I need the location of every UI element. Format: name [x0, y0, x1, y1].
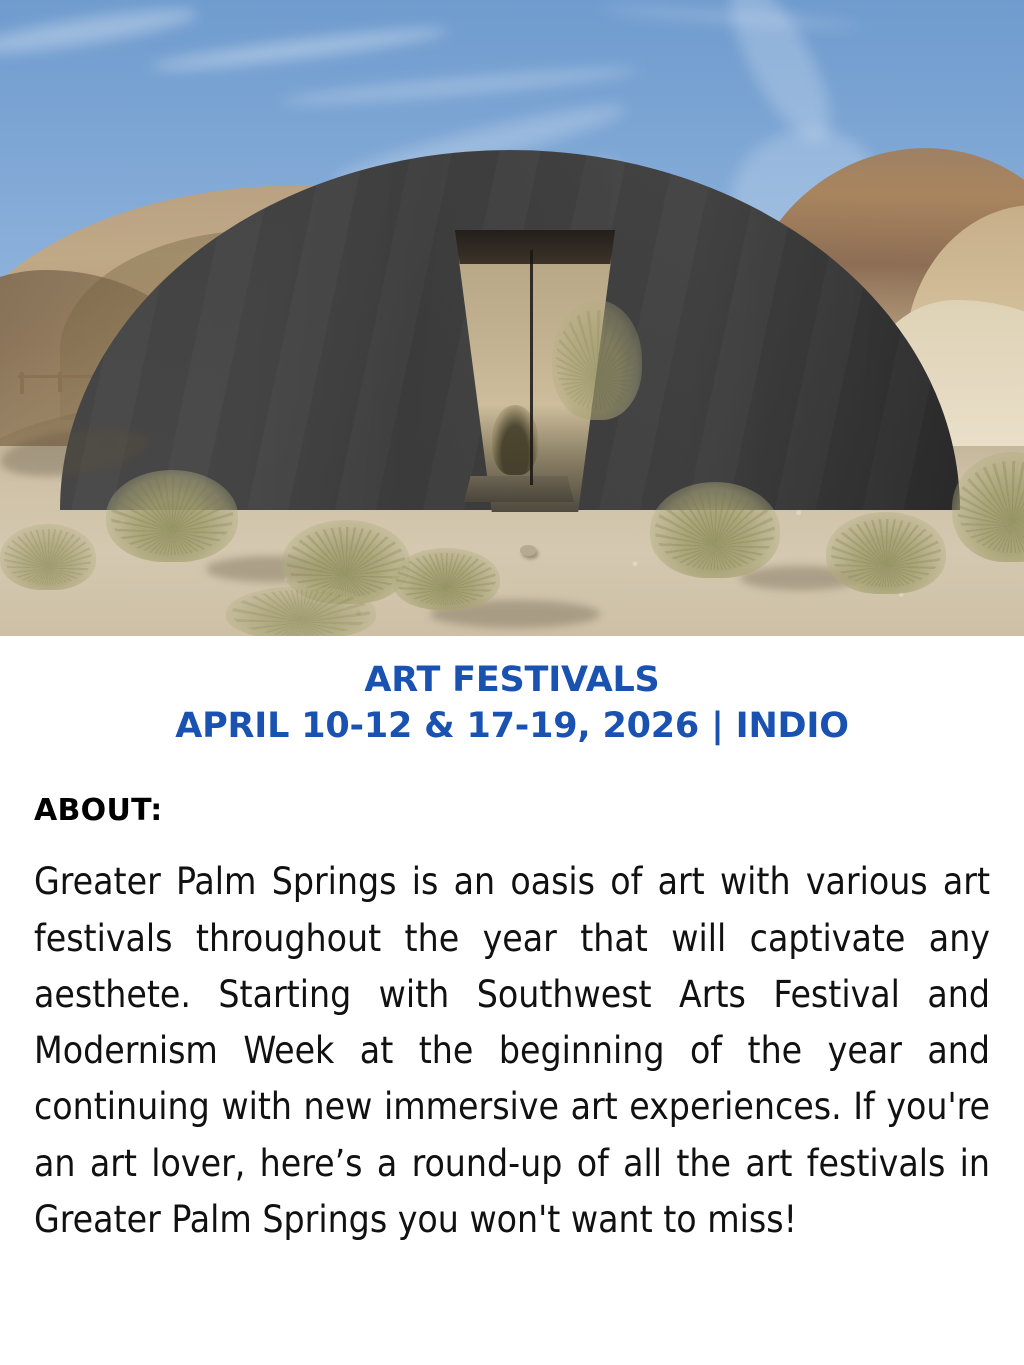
- about-heading: ABOUT:: [34, 793, 994, 828]
- about-body-text: Greater Palm Springs is an oasis of art …: [34, 854, 990, 1248]
- doorway-slab: [464, 476, 574, 502]
- dome-doorway-lintel: [455, 230, 615, 264]
- desert-shrub: [650, 482, 780, 578]
- page-title-line-1: ART FESTIVALS: [364, 660, 659, 700]
- dome-sculpture: [60, 150, 960, 510]
- desert-shrub: [552, 300, 642, 420]
- desert-shrub: [392, 548, 500, 610]
- doorway-seam: [530, 250, 533, 485]
- desert-shrub: [226, 586, 376, 636]
- page-title-line-2: APRIL 10-12 & 17-19, 2026 | INDIO: [30, 703, 994, 749]
- page-title: ART FESTIVALS APRIL 10-12 & 17-19, 2026 …: [30, 636, 994, 749]
- desert-rock: [520, 545, 536, 556]
- hero-image: [0, 0, 1024, 636]
- desert-shrub: [106, 470, 238, 562]
- desert-shrub: [0, 524, 96, 590]
- desert-shrub: [826, 512, 946, 594]
- content-area: ART FESTIVALS APRIL 10-12 & 17-19, 2026 …: [0, 636, 1024, 1248]
